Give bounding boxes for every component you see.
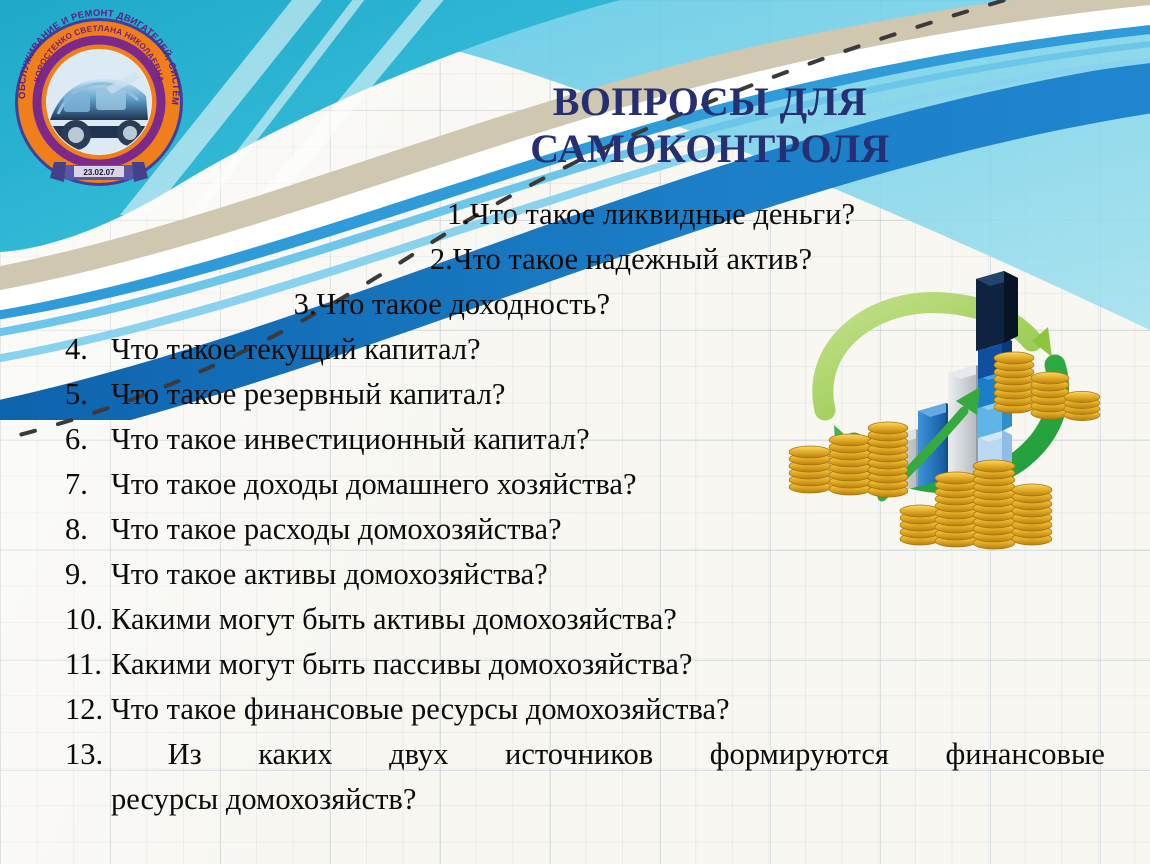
- question-text-2: Что такое надежный актив?: [453, 237, 812, 282]
- question-number-7: 7.: [65, 462, 111, 507]
- title-line-1: ВОПРОСЫ ДЛЯ: [553, 79, 868, 124]
- self-check-questions-list: 1. Что такое ликвидные деньги? 2. Что та…: [0, 192, 1105, 822]
- question-item-6: 6. Что такое инвестиционный капитал?: [0, 417, 1105, 462]
- question-item-3: 3. Что такое доходность?: [0, 282, 1105, 327]
- question-text-6: Что такое инвестиционный капитал?: [111, 417, 590, 462]
- question-13-word-4: источников: [505, 732, 653, 777]
- question-text-10: Какими могут быть активы домохозяйства?: [111, 597, 677, 642]
- question-text-8: Что такое расходы домохозяйства?: [111, 507, 562, 552]
- question-13-word-6: финансовые: [945, 732, 1105, 777]
- question-number-10: 10.: [65, 597, 111, 642]
- question-13-word-3: двух: [389, 732, 448, 777]
- question-number-11: 11.: [65, 642, 111, 687]
- question-text-7: Что такое доходы домашнего хозяйства?: [111, 462, 637, 507]
- question-item-12: 12. Что такое финансовые ресурсы домохоз…: [0, 687, 1105, 732]
- question-item-13: 13. Из каких двух источников формируются…: [0, 732, 1105, 822]
- question-item-8: 8. Что такое расходы домохозяйства?: [0, 507, 1105, 552]
- title-line-2: САМОКОНТРОЛЯ: [430, 125, 990, 172]
- question-text-4: Что такое текущий капитал?: [111, 327, 481, 372]
- question-13-word-2: каких: [258, 732, 332, 777]
- question-item-10: 10. Какими могут быть активы домохозяйст…: [0, 597, 1105, 642]
- presentation-slide: 23.02.07 ТЕХНИЧЕСКОЕ ОБСЛУЖИВАНИЕ И РЕМО…: [0, 0, 1150, 864]
- question-text-5: Что такое резервный капитал?: [111, 372, 505, 417]
- organization-logo-badge: 23.02.07 ТЕХНИЧЕСКОЕ ОБСЛУЖИВАНИЕ И РЕМО…: [6, 2, 191, 190]
- question-number-12: 12.: [65, 687, 111, 732]
- question-number-4: 4.: [65, 327, 111, 372]
- slide-title: ВОПРОСЫ ДЛЯ САМОКОНТРОЛЯ: [430, 78, 990, 172]
- question-13-line-2: ресурсы домохозяйств?: [65, 777, 1105, 822]
- question-number-6: 6.: [65, 417, 111, 462]
- question-number-9: 9.: [65, 552, 111, 597]
- question-number-13: 13.: [65, 732, 111, 777]
- question-13-word-5: формируются: [710, 732, 889, 777]
- question-number-8: 8.: [65, 507, 111, 552]
- question-text-11: Какими могут быть пассивы домохозяйства?: [111, 642, 692, 687]
- question-number-2: 2.: [430, 237, 453, 282]
- question-13-word-1: Из: [168, 732, 202, 777]
- question-number-3: 3.: [294, 282, 317, 327]
- svg-text:23.02.07: 23.02.07: [83, 168, 115, 177]
- question-number-5: 5.: [65, 372, 111, 417]
- question-text-12: Что такое финансовые ресурсы домохозяйст…: [111, 687, 730, 732]
- question-item-11: 11. Какими могут быть пассивы домохозяйс…: [0, 642, 1105, 687]
- question-text-1: Что такое ликвидные деньги?: [470, 192, 855, 237]
- question-text-9: Что такое активы домохозяйства?: [111, 552, 548, 597]
- question-item-2: 2. Что такое надежный актив?: [0, 237, 1105, 282]
- question-text-3: Что такое доходность?: [316, 282, 610, 327]
- question-item-9: 9. Что такое активы домохозяйства?: [0, 552, 1105, 597]
- question-item-5: 5. Что такое резервный капитал?: [0, 372, 1105, 417]
- question-number-1: 1.: [447, 192, 470, 237]
- logo-ribbon: 23.02.07: [50, 162, 148, 182]
- question-item-7: 7. Что такое доходы домашнего хозяйства?: [0, 462, 1105, 507]
- question-item-1: 1. Что такое ликвидные деньги?: [0, 192, 1105, 237]
- question-item-4: 4. Что такое текущий капитал?: [0, 327, 1105, 372]
